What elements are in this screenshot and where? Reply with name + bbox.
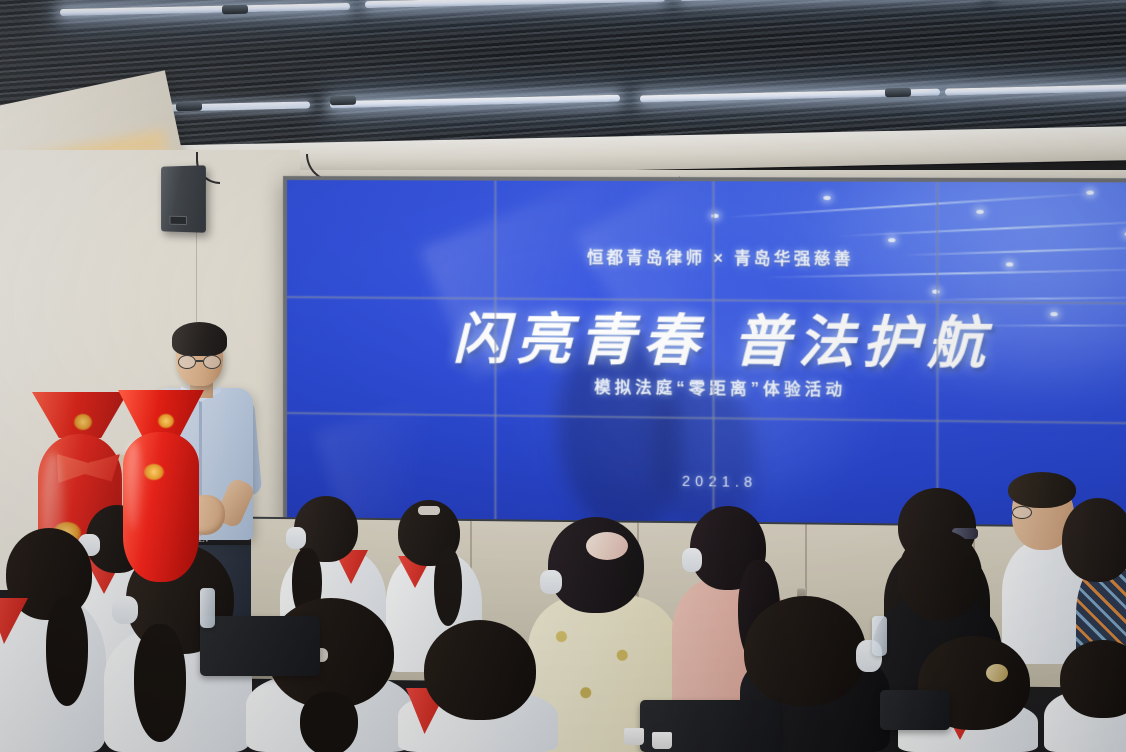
ponytail [300, 692, 358, 752]
vase-gold-motif [158, 414, 174, 428]
slide-sparkle [823, 196, 830, 200]
water-bottle[interactable] [200, 588, 215, 628]
face-mask [112, 596, 138, 624]
panel-divider-vertical [712, 181, 714, 530]
face-mask [682, 548, 702, 572]
panel-divider-vertical [494, 181, 496, 527]
chair-back [200, 616, 320, 676]
vase-highlight [126, 440, 142, 530]
adult-head [548, 517, 644, 613]
light-fixture-cap [176, 102, 202, 112]
light-fixture-cap [330, 96, 356, 106]
ponytail [46, 596, 88, 706]
slide-sparkle [1086, 191, 1093, 195]
hair-ornament [986, 664, 1008, 682]
video-wall-screen: 恒都青岛律师 × 青岛华强慈善 闪亮青春 普法护航 模拟法庭“零距离”体验活动 … [287, 180, 1126, 538]
slide-title: 闪亮青春 普法护航 [287, 292, 1126, 381]
student-head [424, 620, 536, 720]
eyeglasses-icon [178, 355, 196, 369]
slide-sparkle [976, 210, 983, 214]
eyeglasses-icon [1012, 506, 1032, 519]
paper-cup[interactable] [652, 732, 672, 749]
hair-clip [418, 506, 440, 515]
slide-organizations: 恒都青岛律师 × 青岛华强慈善 [287, 242, 1126, 272]
vase-neck [118, 390, 204, 436]
adult-hair [1008, 472, 1076, 508]
eyeglasses-icon [203, 355, 221, 369]
chair-back [880, 690, 950, 730]
light-fixture-cap [885, 88, 911, 98]
face-mask [286, 527, 306, 549]
panel-divider-vertical [936, 182, 938, 534]
ponytail [434, 548, 462, 626]
video-wall: 恒都青岛律师 × 青岛华强慈善 闪亮青春 普法护航 模拟法庭“零距离”体验活动 … [283, 176, 1126, 541]
photo-scene: 恒都青岛律师 × 青岛华强慈善 闪亮青春 普法护航 模拟法庭“零距离”体验活动 … [0, 0, 1126, 752]
adult-head [898, 530, 982, 620]
vase-gold-motif [144, 464, 164, 480]
water-bottle[interactable] [872, 616, 887, 656]
ponytail [134, 624, 186, 742]
face-mask [540, 570, 562, 594]
wall-speaker-icon [161, 165, 206, 232]
paper-cup[interactable] [624, 728, 644, 745]
hair-ornament [586, 532, 628, 560]
presenter-hair [172, 322, 227, 356]
slide-sparkle [888, 238, 895, 242]
eyeglasses-bridge [196, 360, 203, 362]
red-vase-right [118, 390, 204, 590]
adult-head [1062, 498, 1126, 582]
student-head [744, 596, 866, 706]
light-fixture-cap [222, 5, 248, 15]
